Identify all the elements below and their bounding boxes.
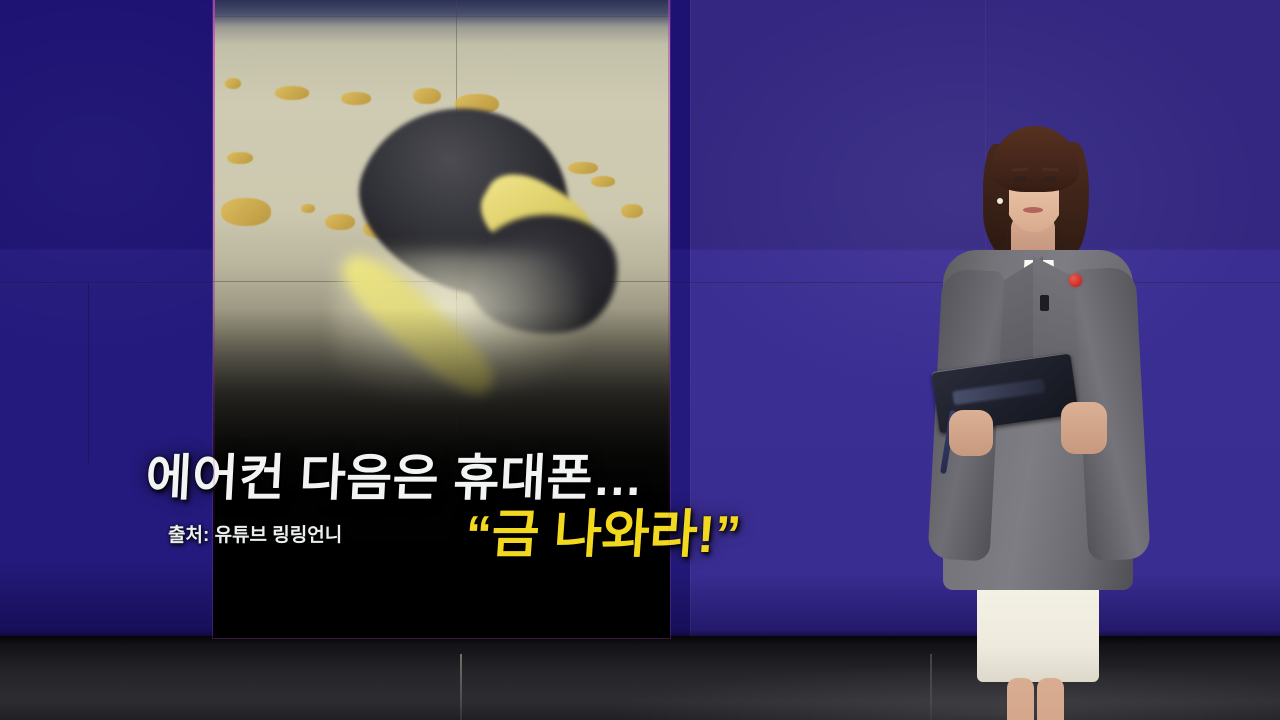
clip-edge-right bbox=[668, 0, 670, 638]
anchor-lapel-pin bbox=[1069, 274, 1082, 287]
anchor-hand-left bbox=[949, 410, 993, 456]
broadcast-frame: 에어컨 다음은 휴대폰… “금 나와라!” 출처: 유튜브 링링언니 bbox=[0, 0, 1280, 720]
anchor-leg-left bbox=[1007, 678, 1034, 720]
gold-flake bbox=[591, 176, 615, 187]
video-clip-panel[interactable] bbox=[213, 0, 670, 638]
news-anchor bbox=[905, 110, 1175, 720]
gold-flake bbox=[341, 92, 371, 105]
gold-flake bbox=[621, 204, 643, 218]
anchor-eye-right bbox=[1044, 176, 1057, 182]
anchor-earring bbox=[997, 198, 1003, 204]
anchor-eye-left bbox=[1014, 176, 1027, 182]
floor-seam-left bbox=[460, 654, 462, 720]
gold-flake bbox=[413, 88, 441, 104]
anchor-mouth bbox=[1023, 207, 1043, 213]
anchor-hair-front bbox=[991, 126, 1079, 192]
gold-flake bbox=[325, 214, 355, 230]
clip-grid-line-h1 bbox=[213, 16, 670, 17]
anchor-hand-right bbox=[1061, 402, 1107, 454]
tablet-text-blur bbox=[952, 379, 1045, 406]
gold-flake bbox=[225, 78, 241, 89]
gold-flake bbox=[221, 198, 271, 226]
gold-flake bbox=[275, 86, 309, 100]
clip-bottom-fade bbox=[213, 308, 670, 638]
gold-flake bbox=[227, 152, 253, 164]
gold-flake bbox=[301, 204, 315, 213]
anchor-leg-right bbox=[1037, 678, 1064, 720]
studio-wall-seam-vertical bbox=[88, 283, 89, 463]
clip-edge-left bbox=[213, 0, 215, 638]
anchor-lapel-microphone bbox=[1040, 295, 1049, 311]
gold-flake bbox=[568, 162, 598, 174]
